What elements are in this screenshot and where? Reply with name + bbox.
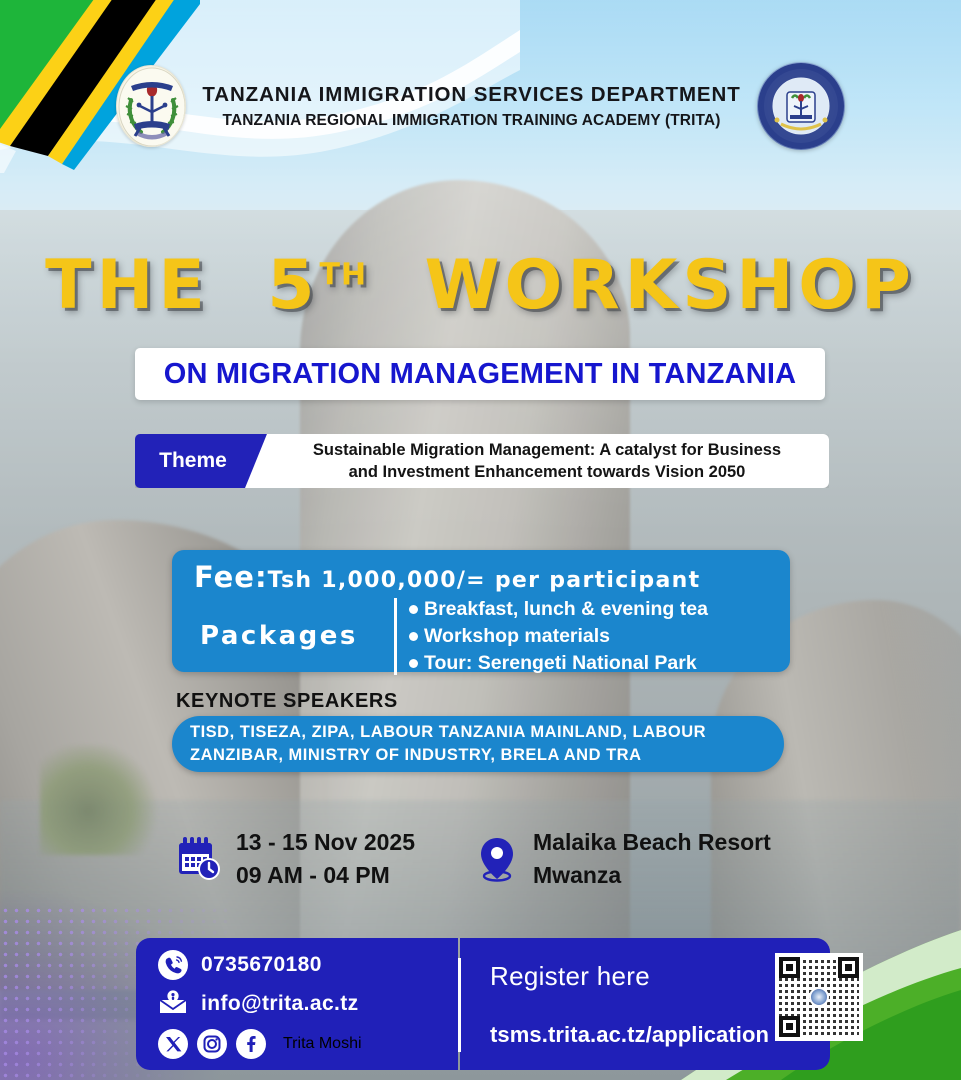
packages-list: Breakfast, lunch & evening tea Workshop …	[409, 596, 708, 677]
list-item: Tour: Serengeti National Park	[409, 650, 708, 677]
register-label: Register here	[490, 961, 769, 992]
footer-divider	[458, 958, 461, 1052]
fee-packages-panel: Fee: Tsh 1,000,000/= per participant Pac…	[172, 550, 790, 672]
social-handle: Trita Moshi	[283, 1035, 362, 1053]
packages-divider	[394, 598, 397, 675]
title-ordinal-number: 5	[267, 246, 319, 325]
event-date-item: 13 - 15 Nov 2025 09 AM - 04 PM	[176, 826, 415, 893]
bullet-icon	[409, 659, 418, 668]
fee-value: Tsh 1,000,000/= per participant	[268, 568, 701, 593]
tisd-crest-logo	[116, 65, 186, 147]
venue-city: Mwanza	[533, 859, 771, 892]
contact-panel: 0735670180 info@trita.ac.tz	[136, 938, 458, 1070]
poster-subtitle-band: ON MIGRATION MANAGEMENT IN TANZANIA	[135, 348, 825, 400]
package-item-text: Breakfast, lunch & evening tea	[424, 596, 708, 623]
trita-seal-logo	[757, 62, 845, 150]
theme-line-2: and Investment Enhancement towards Visio…	[349, 461, 746, 483]
fee-label: Fee:	[194, 560, 268, 594]
theme-text-block: Sustainable Migration Management: A cata…	[245, 434, 829, 488]
keynote-line-1: TISD, TISEZA, ZIPA, LABOUR TANZANIA MAIN…	[190, 721, 766, 744]
poster-title-block: THE 5TH WORKSHOP	[0, 252, 961, 320]
packages-row: Packages Breakfast, lunch & evening tea …	[194, 596, 774, 677]
keynote-speakers-heading: KEYNOTE SPEAKERS	[176, 690, 398, 713]
package-item-text: Workshop materials	[424, 623, 610, 650]
packages-label: Packages	[194, 621, 394, 651]
phone-row[interactable]: 0735670180	[158, 950, 458, 980]
register-url[interactable]: tsms.trita.ac.tz/application	[490, 1022, 769, 1048]
event-date-text: 13 - 15 Nov 2025 09 AM - 04 PM	[236, 826, 415, 893]
theme-line-1: Sustainable Migration Management: A cata…	[313, 439, 781, 461]
event-meta-row: 13 - 15 Nov 2025 09 AM - 04 PM Malaika B…	[176, 826, 816, 893]
shrub-vegetation	[40, 745, 160, 855]
email-icon	[158, 987, 188, 1022]
fee-line: Fee: Tsh 1,000,000/= per participant	[194, 560, 774, 594]
list-item: Workshop materials	[409, 623, 708, 650]
calendar-clock-icon	[176, 836, 222, 882]
header-text-block: TANZANIA IMMIGRATION SERVICES DEPARTMENT…	[202, 83, 740, 130]
keynote-line-2: ZANZIBAR, MINISTRY OF INDUSTRY, BRELA AN…	[190, 744, 766, 767]
poster-header: TANZANIA IMMIGRATION SERVICES DEPARTMENT…	[0, 62, 961, 150]
facebook-icon[interactable]	[236, 1029, 266, 1059]
social-row: Trita Moshi	[158, 1029, 458, 1059]
register-panel[interactable]: Register here tsms.trita.ac.tz/applicati…	[460, 938, 830, 1070]
poster-subtitle: ON MIGRATION MANAGEMENT IN TANZANIA	[164, 358, 797, 391]
venue-name: Malaika Beach Resort	[533, 826, 771, 859]
registration-qr-code[interactable]	[775, 953, 863, 1041]
title-ordinal-suffix: TH	[320, 257, 368, 292]
poster-title: THE 5TH WORKSHOP	[45, 252, 916, 320]
title-prefix: THE	[45, 246, 210, 325]
phone-number: 0735670180	[201, 953, 322, 977]
email-row[interactable]: info@trita.ac.tz	[158, 987, 458, 1022]
keynote-speakers-panel: TISD, TISEZA, ZIPA, LABOUR TANZANIA MAIN…	[172, 716, 784, 772]
bullet-icon	[409, 605, 418, 614]
org-name-secondary: TANZANIA REGIONAL IMMIGRATION TRAINING A…	[202, 112, 740, 130]
title-word: WORKSHOP	[425, 246, 916, 325]
register-text-block: Register here tsms.trita.ac.tz/applicati…	[476, 961, 769, 1048]
list-item: Breakfast, lunch & evening tea	[409, 596, 708, 623]
location-pin-icon	[475, 835, 519, 883]
event-venue-text: Malaika Beach Resort Mwanza	[533, 826, 771, 893]
bullet-icon	[409, 632, 418, 641]
event-time: 09 AM - 04 PM	[236, 859, 415, 892]
theme-banner: Theme Sustainable Migration Management: …	[135, 434, 829, 488]
email-address: info@trita.ac.tz	[201, 992, 359, 1016]
phone-icon	[158, 950, 188, 980]
theme-tab-label: Theme	[135, 434, 267, 488]
event-date: 13 - 15 Nov 2025	[236, 826, 415, 859]
x-twitter-icon[interactable]	[158, 1029, 188, 1059]
event-venue-item: Malaika Beach Resort Mwanza	[475, 826, 771, 893]
org-name-primary: TANZANIA IMMIGRATION SERVICES DEPARTMENT	[202, 83, 740, 107]
instagram-icon[interactable]	[197, 1029, 227, 1059]
package-item-text: Tour: Serengeti National Park	[424, 650, 697, 677]
workshop-poster: TANZANIA IMMIGRATION SERVICES DEPARTMENT…	[0, 0, 961, 1080]
